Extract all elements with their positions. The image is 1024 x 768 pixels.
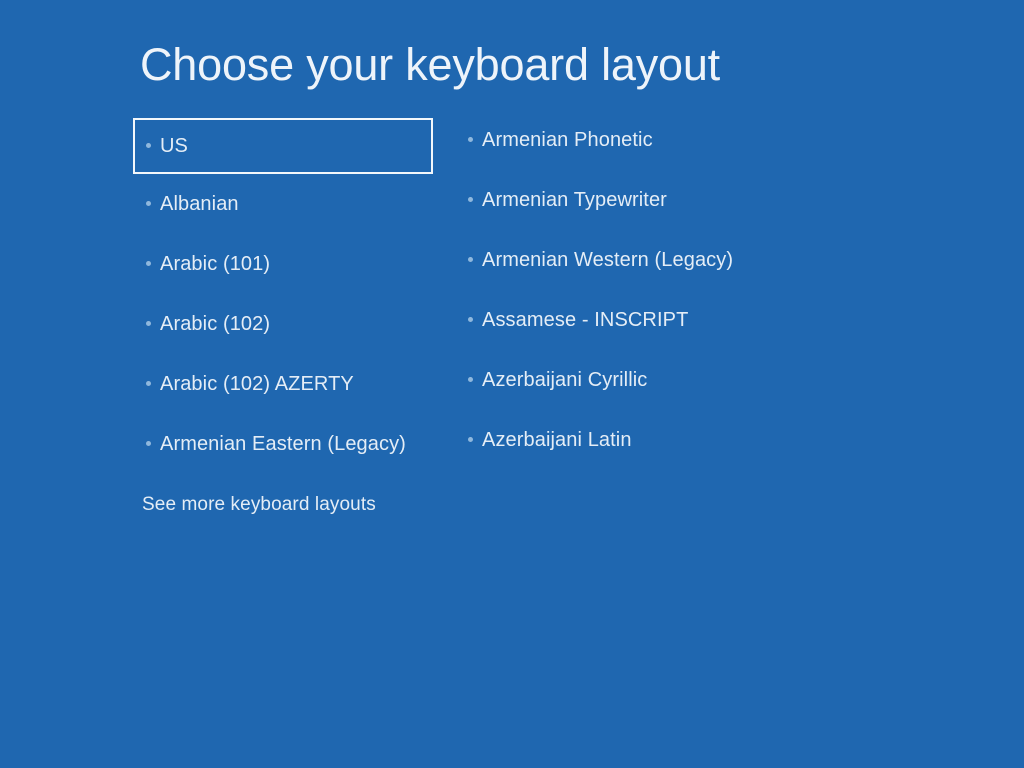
layout-option-label: Armenian Typewriter xyxy=(482,188,667,212)
bullet-icon xyxy=(146,143,151,148)
bullet-icon xyxy=(468,377,473,382)
layout-option-azerbaijani-cyrillic[interactable]: Azerbaijani Cyrillic xyxy=(455,350,775,410)
keyboard-layout-column-left: US Albanian Arabic (101) Arabic (102) Ar… xyxy=(133,110,433,474)
layout-option-arabic-102[interactable]: Arabic (102) xyxy=(133,294,433,354)
bullet-icon xyxy=(468,317,473,322)
layout-option-label: Azerbaijani Cyrillic xyxy=(482,368,647,392)
layout-option-albanian[interactable]: Albanian xyxy=(133,174,433,234)
bullet-icon xyxy=(468,257,473,262)
layout-option-armenian-eastern-legacy[interactable]: Armenian Eastern (Legacy) xyxy=(133,414,433,474)
layout-option-label: US xyxy=(160,134,188,158)
layout-option-us[interactable]: US xyxy=(133,118,433,174)
bullet-icon xyxy=(468,197,473,202)
layout-option-label: Arabic (102) AZERTY xyxy=(160,372,354,396)
layout-option-label: Albanian xyxy=(160,192,239,216)
layout-option-label: Azerbaijani Latin xyxy=(482,428,632,452)
bullet-icon xyxy=(468,437,473,442)
bullet-icon xyxy=(146,261,151,266)
layout-option-arabic-102-azerty[interactable]: Arabic (102) AZERTY xyxy=(133,354,433,414)
layout-option-label: Armenian Phonetic xyxy=(482,128,653,152)
layout-option-label: Armenian Eastern (Legacy) xyxy=(160,432,406,456)
bullet-icon xyxy=(146,381,151,386)
layout-option-label: Assamese - INSCRIPT xyxy=(482,308,688,332)
bullet-icon xyxy=(146,321,151,326)
layout-option-armenian-phonetic[interactable]: Armenian Phonetic xyxy=(455,110,775,170)
layout-option-armenian-typewriter[interactable]: Armenian Typewriter xyxy=(455,170,775,230)
layout-option-armenian-western-legacy[interactable]: Armenian Western (Legacy) xyxy=(455,230,775,290)
layout-option-azerbaijani-latin[interactable]: Azerbaijani Latin xyxy=(455,410,775,470)
layout-option-label: Armenian Western (Legacy) xyxy=(482,248,733,272)
page-title: Choose your keyboard layout xyxy=(140,36,720,94)
layout-option-label: Arabic (101) xyxy=(160,252,270,276)
bullet-icon xyxy=(146,201,151,206)
bullet-icon xyxy=(146,441,151,446)
bullet-icon xyxy=(468,137,473,142)
layout-option-label: Arabic (102) xyxy=(160,312,270,336)
layout-option-arabic-101[interactable]: Arabic (101) xyxy=(133,234,433,294)
see-more-keyboard-layouts-link[interactable]: See more keyboard layouts xyxy=(142,492,376,518)
keyboard-layout-column-right: Armenian Phonetic Armenian Typewriter Ar… xyxy=(455,110,775,470)
keyboard-layout-screen: Choose your keyboard layout US Albanian … xyxy=(0,0,1024,768)
layout-option-assamese-inscript[interactable]: Assamese - INSCRIPT xyxy=(455,290,775,350)
